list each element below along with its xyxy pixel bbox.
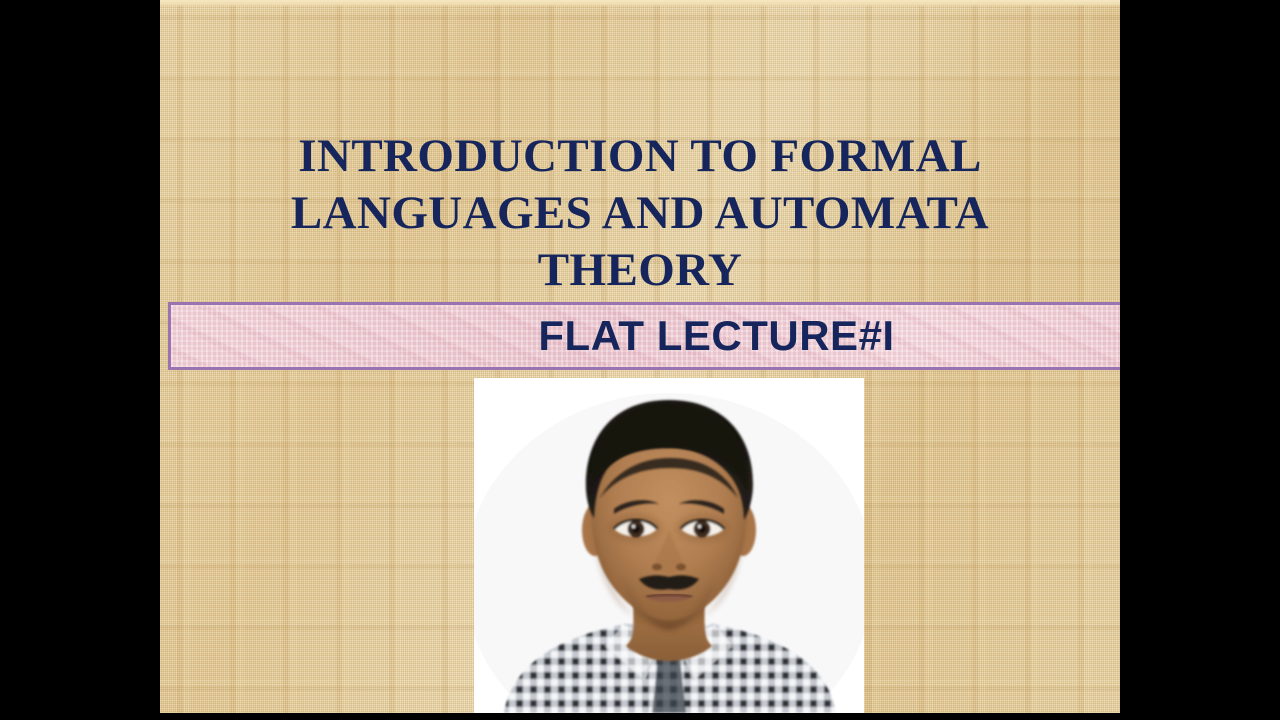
title-line-1: INTRODUCTION TO FORMAL <box>220 128 1060 185</box>
title-line-2: LANGUAGES AND AUTOMATA <box>220 185 1060 242</box>
letterbox-bar-right <box>1120 0 1280 720</box>
screenshot-root: INTRODUCTION TO FORMAL LANGUAGES AND AUT… <box>0 0 1280 720</box>
presentation-slide: INTRODUCTION TO FORMAL LANGUAGES AND AUT… <box>160 0 1120 713</box>
title-line-3: THEORY <box>220 242 1060 299</box>
letterbox-bar-bottom <box>0 713 1280 720</box>
slide-top-sheen <box>160 0 1120 7</box>
lecture-banner-label: FLAT LECTURE#I <box>538 315 894 357</box>
lecture-banner: FLAT LECTURE#I <box>168 302 1120 370</box>
page-title: INTRODUCTION TO FORMAL LANGUAGES AND AUT… <box>220 128 1060 299</box>
letterbox-bar-left <box>0 0 160 720</box>
instructor-portrait-photo <box>474 378 864 713</box>
portrait-illustration <box>474 378 864 713</box>
